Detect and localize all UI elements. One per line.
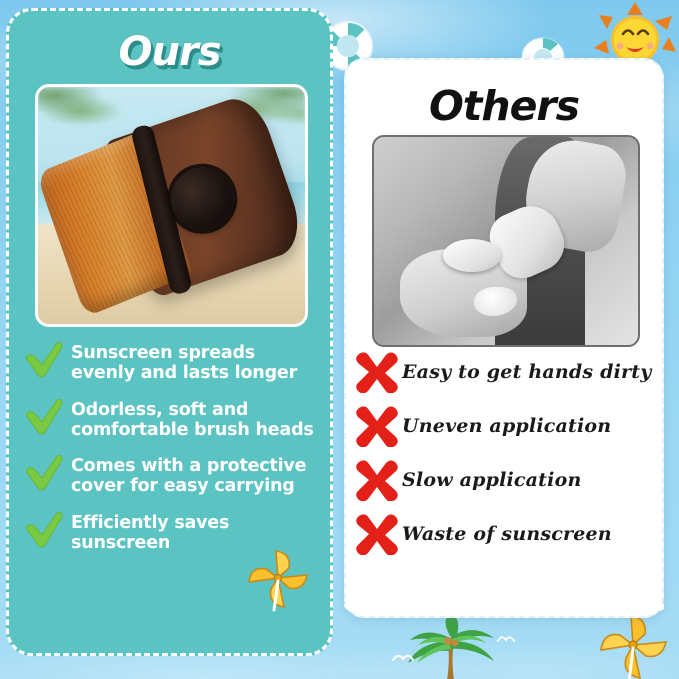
drawback-item: Slow application	[354, 458, 664, 502]
check-icon	[23, 454, 65, 492]
photo-bottle-cap	[443, 239, 501, 272]
feature-item: Odorless, soft and comfortable brush hea…	[23, 398, 323, 441]
feature-text: Odorless, soft and comfortable brush hea…	[71, 398, 323, 441]
seagull-icon	[497, 628, 515, 638]
feature-text: Sunscreen spreads evenly and lasts longe…	[71, 341, 323, 384]
panel-others-scalloped-edge	[344, 604, 664, 626]
check-icon	[23, 398, 65, 436]
drawback-item: Waste of sunscreen	[354, 512, 664, 556]
drawback-list-others: Easy to get hands dirty Uneven applicati…	[354, 350, 664, 566]
feature-item: Efficiently saves sunscreen	[23, 511, 323, 554]
feature-item: Sunscreen spreads evenly and lasts longe…	[23, 341, 323, 384]
check-icon	[23, 341, 65, 379]
panel-others-title: Others	[346, 82, 662, 130]
feature-text: Efficiently saves sunscreen	[71, 511, 323, 554]
panel-ours-title: Ours	[9, 29, 330, 75]
panel-ours: Ours Sunscreen spreads evenly and la	[6, 8, 333, 656]
panel-others: Others Easy to get hands dirty	[344, 58, 664, 618]
drawback-text: Uneven application	[402, 415, 611, 437]
product-photo-ours	[35, 84, 308, 327]
feature-item: Comes with a protective cover for easy c…	[23, 454, 323, 497]
drawback-text: Easy to get hands dirty	[402, 361, 651, 383]
product-photo-others	[372, 135, 640, 347]
cross-icon	[354, 351, 400, 393]
cross-icon	[354, 459, 400, 501]
feature-list-ours: Sunscreen spreads evenly and lasts longe…	[23, 341, 323, 567]
feature-text: Comes with a protective cover for easy c…	[71, 454, 323, 497]
drawback-text: Slow application	[402, 469, 581, 491]
drawback-item: Easy to get hands dirty	[354, 350, 664, 394]
seagull-icon	[392, 648, 414, 660]
infographic-canvas: Ours Sunscreen spreads evenly and la	[0, 0, 679, 679]
cross-icon	[354, 405, 400, 447]
drawback-text: Waste of sunscreen	[402, 523, 612, 545]
drawback-item: Uneven application	[354, 404, 664, 448]
check-icon	[23, 511, 65, 549]
cross-icon	[354, 513, 400, 555]
